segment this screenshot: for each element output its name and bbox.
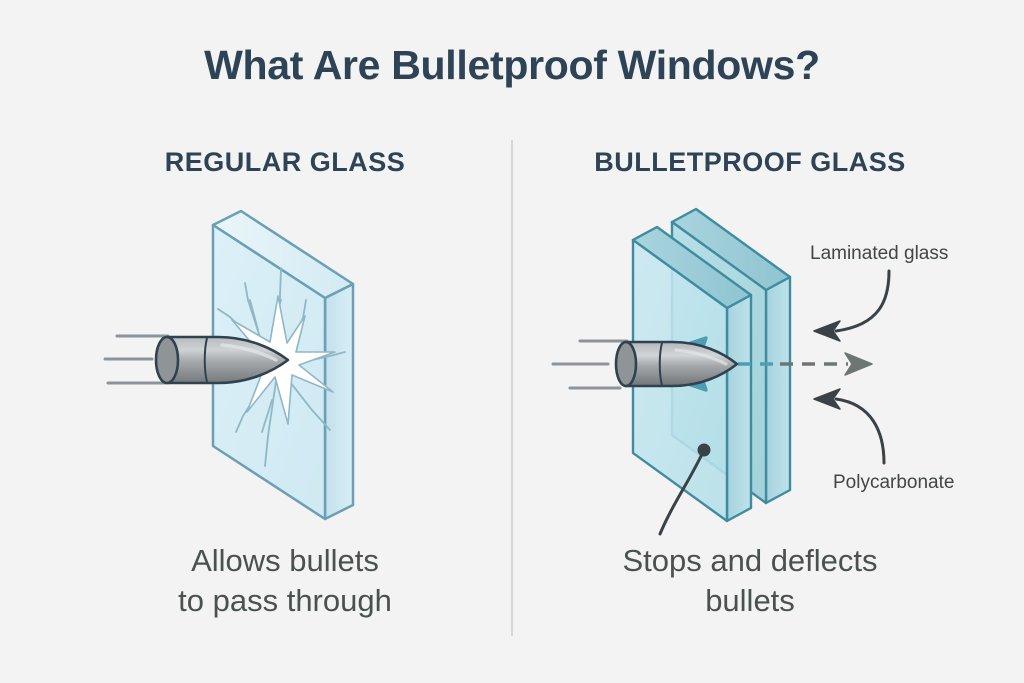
glass-pane-side-face — [325, 284, 353, 519]
polycarbonate-top-face — [672, 209, 790, 290]
column-heading-bulletproof-glass: BULLETPROOF GLASS — [525, 147, 975, 178]
glass-pane-front-face — [213, 225, 325, 519]
glass-layer-polycarbonate — [672, 209, 790, 503]
infographic-canvas: What Are Bulletproof Windows? REGULAR GL… — [0, 0, 1024, 683]
caption-bulletproof-glass-line2: bullets — [525, 581, 975, 621]
caption-bulletproof-glass: Stops and deflects bullets — [525, 541, 975, 620]
glass-pane-top-face — [213, 211, 353, 298]
leader-line-front-layer — [660, 444, 711, 535]
impact-starburst — [224, 296, 335, 424]
callout-arrow-polycarbonate — [814, 389, 884, 463]
deflection-arrows — [688, 338, 724, 390]
caption-regular-glass: Allows bullets to pass through — [60, 541, 510, 620]
crack-lines — [213, 268, 345, 466]
caption-regular-glass-line2: to pass through — [60, 581, 510, 621]
blocked-trajectory — [716, 353, 872, 375]
bullet-speed-lines-right — [553, 341, 627, 388]
annotation-label-laminated-glass: Laminated glass — [810, 243, 948, 265]
caption-bulletproof-glass-line1: Stops and deflects — [525, 541, 975, 581]
annotation-label-polycarbonate: Polycarbonate — [833, 472, 954, 494]
polycarbonate-front-face — [672, 222, 766, 503]
caption-regular-glass-line1: Allows bullets — [60, 541, 510, 581]
glass-layer-laminated — [633, 227, 751, 521]
polycarbonate-side-face — [766, 277, 790, 503]
bullet-speed-lines — [105, 336, 168, 383]
column-heading-regular-glass: REGULAR GLASS — [60, 147, 510, 178]
callout-arrow-laminated — [814, 271, 889, 341]
laminated-front-face — [633, 240, 727, 521]
page-title: What Are Bulletproof Windows? — [0, 42, 1024, 89]
bullet-left — [156, 337, 288, 383]
regular-glass-illustration — [105, 211, 353, 519]
laminated-side-face — [727, 295, 751, 521]
blocked-arrowhead — [845, 353, 872, 375]
laminated-top-face — [633, 227, 751, 308]
bullet-right — [616, 342, 737, 386]
